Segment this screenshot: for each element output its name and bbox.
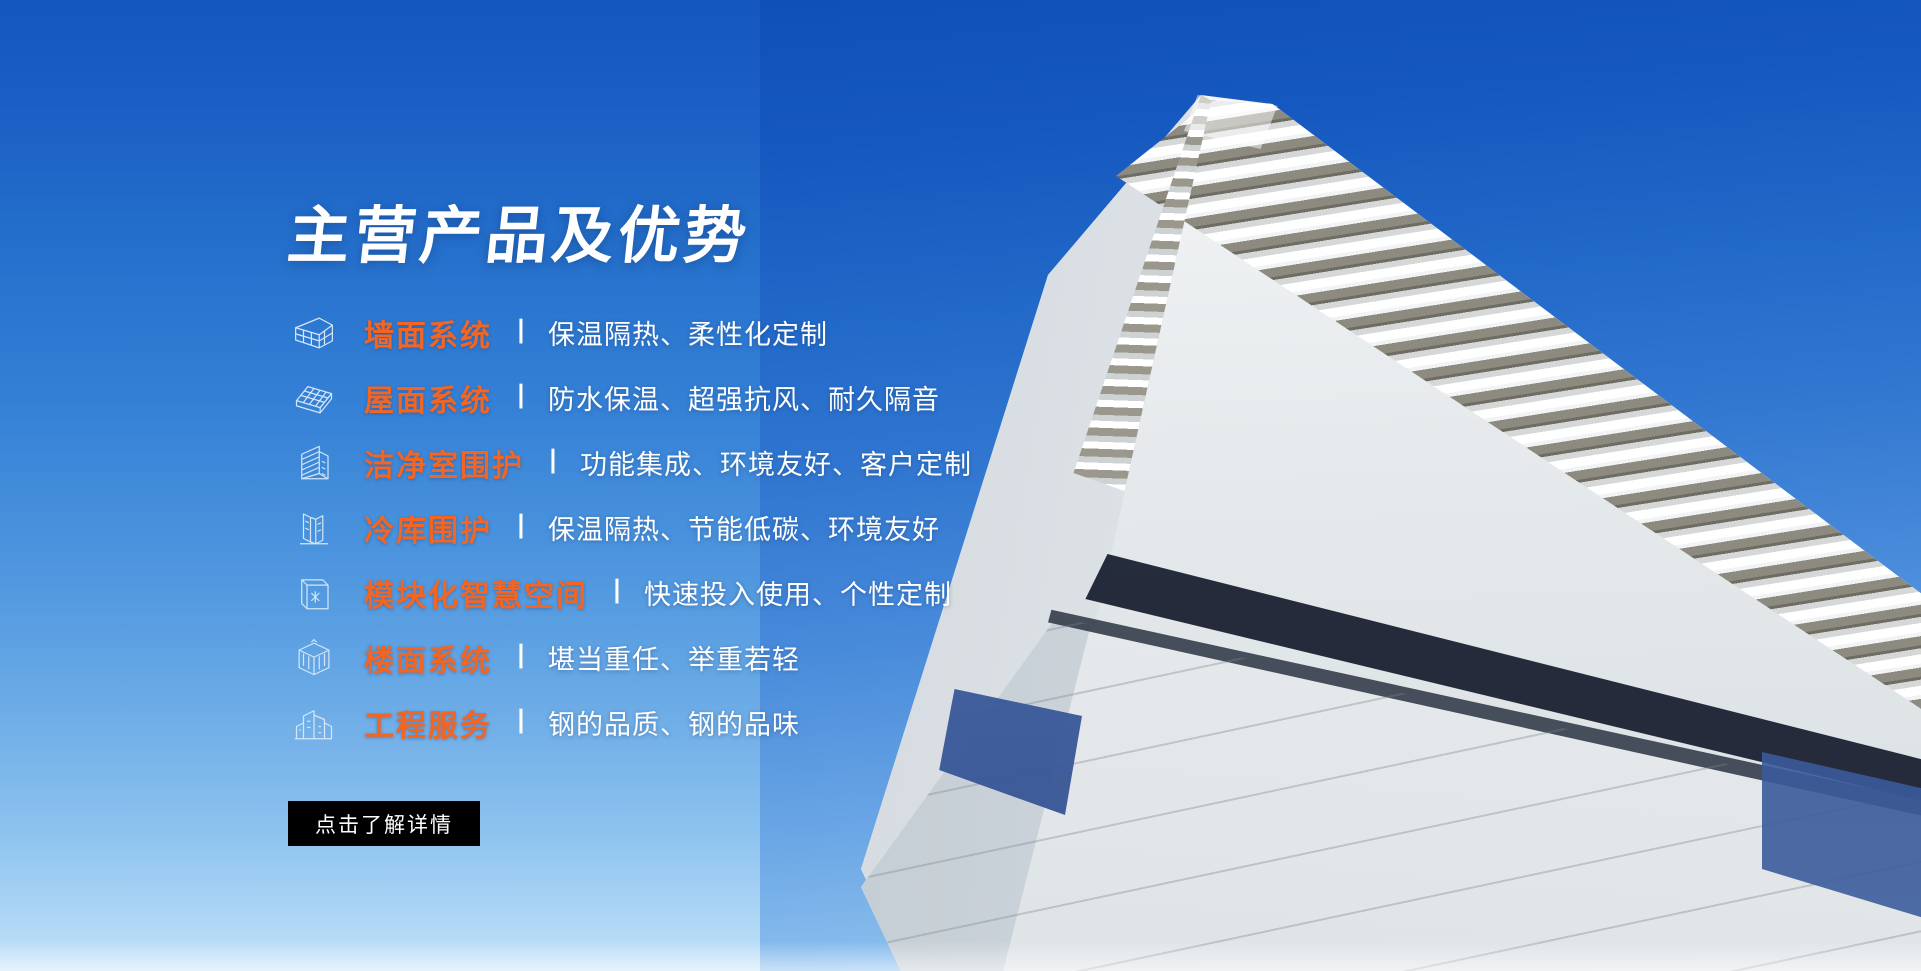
feature-description: 快速投入使用、个性定制 xyxy=(644,573,952,612)
promo-banner: 主营产品及优势 墙面系统 丨 保温隔热、柔性化定制 xyxy=(0,0,1921,971)
list-item[interactable]: 墙面系统 丨 保温隔热、柔性化定制 xyxy=(288,300,1488,365)
feature-name: 楼面系统 xyxy=(364,636,492,680)
feature-name: 工程服务 xyxy=(364,701,492,745)
feature-separator: 丨 xyxy=(508,709,534,735)
modular-space-icon xyxy=(288,571,340,615)
feature-separator: 丨 xyxy=(508,644,534,670)
list-item[interactable]: 楼面系统 丨 堪当重任、举重若轻 xyxy=(288,625,1488,690)
roof-panel-icon xyxy=(288,376,340,420)
feature-separator: 丨 xyxy=(508,319,534,345)
feature-separator: 丨 xyxy=(508,514,534,540)
feature-separator: 丨 xyxy=(604,579,630,605)
feature-name: 冷库围护 xyxy=(364,506,492,550)
feature-description: 保温隔热、节能低碳、环境友好 xyxy=(548,508,940,547)
engineering-service-icon xyxy=(288,701,340,745)
banner-content: 主营产品及优势 墙面系统 丨 保温隔热、柔性化定制 xyxy=(0,0,1921,971)
cleanroom-icon xyxy=(288,441,340,485)
list-item[interactable]: 工程服务 丨 钢的品质、钢的品味 xyxy=(288,690,1488,755)
feature-list: 墙面系统 丨 保温隔热、柔性化定制 屋面系统 丨 防水保温、超强抗 xyxy=(288,300,1488,755)
floor-system-icon xyxy=(288,636,340,680)
feature-description: 功能集成、环境友好、客户定制 xyxy=(580,443,972,482)
feature-description: 堪当重任、举重若轻 xyxy=(548,638,800,677)
list-item[interactable]: 模块化智慧空间 丨 快速投入使用、个性定制 xyxy=(288,560,1488,625)
feature-name: 墙面系统 xyxy=(364,311,492,355)
cold-storage-icon xyxy=(288,506,340,550)
page-title: 主营产品及优势 xyxy=(285,206,754,268)
feature-separator: 丨 xyxy=(540,449,566,475)
feature-description: 防水保温、超强抗风、耐久隔音 xyxy=(548,378,940,417)
feature-description: 钢的品质、钢的品味 xyxy=(548,703,800,742)
list-item[interactable]: 屋面系统 丨 防水保温、超强抗风、耐久隔音 xyxy=(288,365,1488,430)
list-item[interactable]: 洁净室围护 丨 功能集成、环境友好、客户定制 xyxy=(288,430,1488,495)
wall-system-icon xyxy=(288,311,340,355)
feature-name: 屋面系统 xyxy=(364,376,492,420)
learn-more-button[interactable]: 点击了解详情 xyxy=(288,801,480,846)
feature-description: 保温隔热、柔性化定制 xyxy=(548,313,828,352)
list-item[interactable]: 冷库围护 丨 保温隔热、节能低碳、环境友好 xyxy=(288,495,1488,560)
feature-separator: 丨 xyxy=(508,384,534,410)
feature-name: 模块化智慧空间 xyxy=(364,571,588,615)
feature-name: 洁净室围护 xyxy=(364,441,524,485)
